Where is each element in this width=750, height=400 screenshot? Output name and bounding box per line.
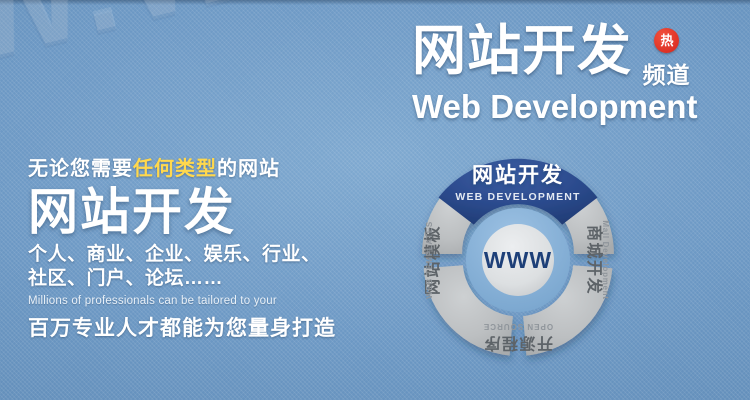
segment-top-label-cn: 网站开发 xyxy=(472,163,564,187)
segment-bottom-label-group: 开源程序 OPEN SOURCE xyxy=(483,322,553,353)
subtitle-en: Millions of professionals can be tailore… xyxy=(28,295,388,307)
categories-block: 个人、商业、企业、娱乐、行业、 社区、门户、论坛…… xyxy=(28,243,388,292)
donut-diagram: WWW 网站开发 WEB DEVELOPMENT 网站模板 WEB TEMPLA… xyxy=(412,148,624,370)
segment-bottom-label-en: OPEN SOURCE xyxy=(483,322,553,331)
header-title-cn: 网站开发 xyxy=(412,24,632,78)
segment-bottom-label-cn: 开源程序 xyxy=(483,334,553,353)
header-badge-group: 热 频道 xyxy=(640,24,706,90)
header-block: 网站开发 热 频道 Web Development xyxy=(412,24,742,126)
header-title-en: Web Development xyxy=(412,88,742,126)
tagline-pre: 无论您需要 xyxy=(28,158,133,180)
header-channel-label: 频道 xyxy=(642,56,706,90)
hub-label: WWW xyxy=(484,247,552,273)
segment-right-label-group: 商城开发 Mall Development xyxy=(585,220,610,299)
segment-right-label-en: Mall Development xyxy=(601,220,610,299)
segment-left-label-en: WEB TEMPLATES xyxy=(425,221,434,299)
banner-root: W.W.W W.W.W W.W.W W.W.W W.W.W W.W.W 网站开发… xyxy=(0,0,750,400)
hot-badge: 热 xyxy=(654,28,679,53)
segment-left-label-group: 网站模板 WEB TEMPLATES xyxy=(423,221,442,299)
copy-block: 无论您需要任何类型的网站 网站开发 个人、商业、企业、娱乐、行业、 社区、门户、… xyxy=(28,152,388,342)
segment-top-label-en: WEB DEVELOPMENT xyxy=(455,191,580,203)
tagline-post: 的网站 xyxy=(217,158,280,180)
headline: 网站开发 xyxy=(28,185,388,239)
closing-line: 百万专业人才都能为您量身打造 xyxy=(28,312,388,342)
categories-line-2: 社区、门户、论坛…… xyxy=(28,267,388,291)
tagline-highlight: 任何类型 xyxy=(133,158,217,180)
categories-line-1: 个人、商业、企业、娱乐、行业、 xyxy=(28,243,388,267)
top-edge-shade xyxy=(0,0,750,5)
tagline: 无论您需要任何类型的网站 xyxy=(28,152,388,181)
donut-svg: WWW 网站开发 WEB DEVELOPMENT 网站模板 WEB TEMPLA… xyxy=(412,148,624,370)
header-title-row: 网站开发 热 频道 xyxy=(412,24,742,90)
